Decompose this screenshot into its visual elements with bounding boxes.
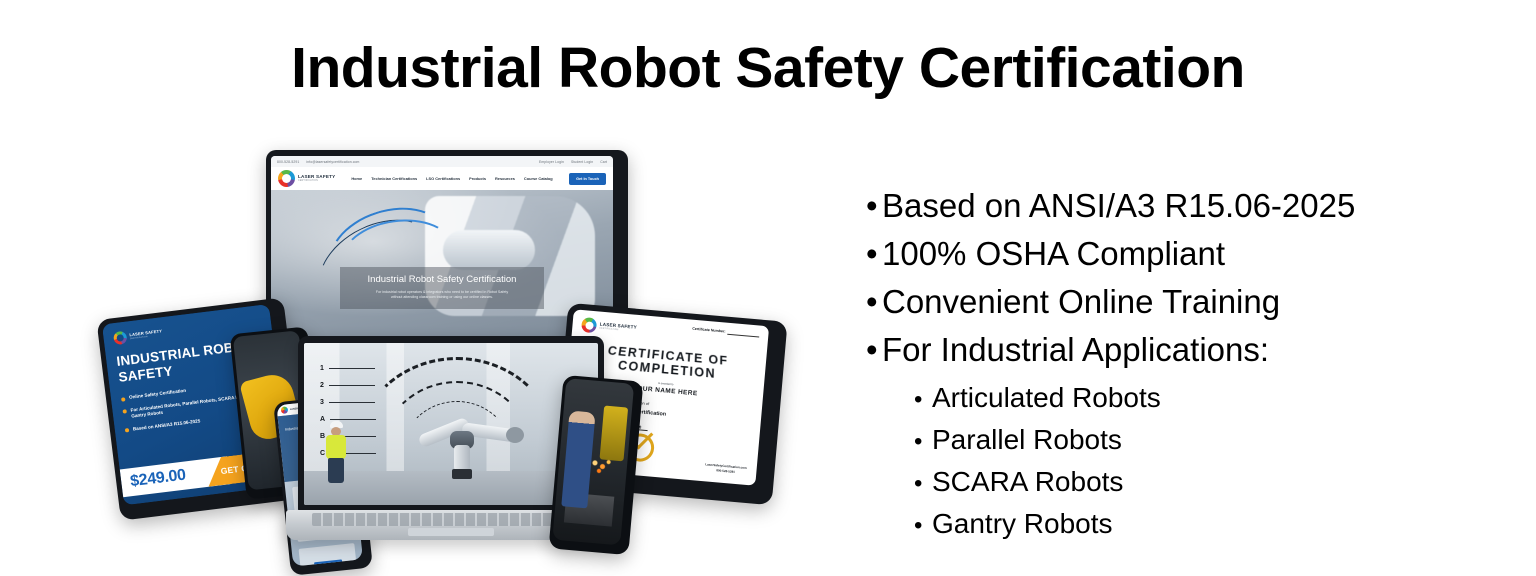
- bullet-marker: •: [866, 278, 882, 326]
- sub-bullet-marker: •: [914, 506, 932, 546]
- hero-title: Industrial Robot Safety Certification: [344, 273, 540, 286]
- robot-end-effector: [506, 427, 524, 443]
- nav-item-products[interactable]: Products: [469, 176, 486, 181]
- product-mockup-group: 800-528-5291 info@lasersafetycertificati…: [70, 140, 830, 560]
- certificate-logo: LASER SAFETY CERTIFICATION: [581, 317, 637, 337]
- nav-item-home[interactable]: Home: [351, 176, 362, 181]
- feature-bullet-list: • Based on ANSI/A3 R15.06-2025 • 100% OS…: [866, 182, 1506, 546]
- bullet-dot-icon: [121, 397, 125, 401]
- bullet-item: • For Industrial Applications:: [866, 326, 1506, 374]
- lsc-ring-icon: [113, 331, 127, 345]
- certificate-number-field: Certificate Number:: [692, 327, 759, 337]
- worker-legs: [328, 458, 344, 483]
- sparks-icon: [586, 454, 614, 476]
- certificate-footer: LaserSafetyCertification.com 800-528-529…: [705, 463, 747, 475]
- slide-canvas: Industrial Robot Safety Certification 80…: [0, 0, 1536, 576]
- brand-subtitle: CERTIFICATION: [298, 180, 335, 182]
- site-email: info@lasersafetycertification.com: [306, 160, 359, 164]
- leader-line: [330, 419, 376, 420]
- zone-label: 2: [320, 382, 376, 389]
- bullet-marker: •: [866, 182, 882, 230]
- phone-welder-screen: [552, 378, 634, 545]
- sub-bullet-label: SCARA Robots: [932, 462, 1123, 502]
- sub-bullet-item: • Parallel Robots: [914, 420, 1506, 462]
- site-hero-section: Industrial Robot Safety Certification Fo…: [271, 190, 613, 338]
- employer-login-link[interactable]: Employer Login: [539, 160, 564, 164]
- nav-item-technician-certifications[interactable]: Technician Certifications: [371, 176, 417, 181]
- site-navigation-bar: LASER SAFETY CERTIFICATION Home Technici…: [271, 167, 613, 190]
- sub-bullet-label: Gantry Robots: [932, 504, 1113, 544]
- lsc-ring-icon: [278, 170, 295, 187]
- sub-bullet-marker: •: [914, 380, 932, 420]
- sub-bullet-item: • Gantry Robots: [914, 504, 1506, 546]
- zone-label: 1: [320, 365, 376, 372]
- monitor-screen: 800-528-5291 info@lasersafetycertificati…: [271, 156, 613, 338]
- get-in-touch-button[interactable]: Get In Touch: [569, 173, 606, 185]
- bullet-marker: •: [866, 230, 882, 278]
- robot-column: [454, 445, 470, 471]
- safety-vest: [326, 435, 346, 459]
- hero-caption: Industrial Robot Safety Certification Fo…: [340, 267, 544, 309]
- cart-link[interactable]: Cart: [600, 160, 607, 164]
- certificate-number-label: Certificate Number:: [692, 327, 726, 334]
- lsc-ring-icon: [581, 317, 597, 333]
- sub-bullet-item: • SCARA Robots: [914, 462, 1506, 504]
- leader-line: [329, 368, 375, 369]
- bullet-label: Based on ANSI/A3 R15.06-2025: [882, 182, 1355, 230]
- machine-photo: [600, 405, 629, 461]
- robot-arm-figure: [422, 405, 518, 479]
- nav-item-lso-certifications[interactable]: LSO Certifications: [426, 176, 460, 181]
- bullet-dot-icon: [123, 409, 127, 413]
- trackpad[interactable]: [408, 528, 494, 536]
- keyboard[interactable]: [312, 513, 590, 526]
- sub-bullet-marker: •: [914, 464, 932, 504]
- brand-name: LASER SAFETY: [298, 175, 335, 180]
- bullet-item: • Convenient Online Training: [866, 278, 1506, 326]
- zone-label: 3: [320, 399, 376, 406]
- hero-body: For industrial robot operators & integra…: [344, 290, 540, 301]
- bullet-marker: •: [866, 326, 882, 374]
- bullet-item: • Based on ANSI/A3 R15.06-2025: [866, 182, 1506, 230]
- bullet-dot-icon: [125, 428, 129, 432]
- mobile-learn-more-button[interactable]: [314, 559, 342, 566]
- page-title: Industrial Robot Safety Certification: [0, 34, 1536, 102]
- sub-bullet-label: Articulated Robots: [932, 378, 1161, 418]
- nav-items: Home Technician Certifications LSO Certi…: [351, 176, 552, 181]
- bullet-item: • 100% OSHA Compliant: [866, 230, 1506, 278]
- site-phone: 800-528-5291: [277, 160, 299, 164]
- bullet-label: 100% OSHA Compliant: [882, 230, 1225, 278]
- nav-item-resources[interactable]: Resources: [495, 176, 515, 181]
- promo-feature-label: Online Safety Certification: [129, 388, 187, 402]
- site-utility-bar: 800-528-5291 info@lasersafetycertificati…: [271, 156, 613, 167]
- bullet-label: Convenient Online Training: [882, 278, 1280, 326]
- sub-bullet-item: • Articulated Robots: [914, 378, 1506, 420]
- nav-item-course-catalog[interactable]: Course Catalog: [524, 176, 553, 181]
- robot-type-sublist: • Articulated Robots • Parallel Robots •…: [866, 378, 1506, 546]
- student-login-link[interactable]: Student Login: [571, 160, 593, 164]
- site-logo[interactable]: LASER SAFETY CERTIFICATION: [278, 170, 335, 187]
- sub-bullet-marker: •: [914, 422, 932, 462]
- robot-base: [452, 469, 472, 479]
- promo-feature-label: Based on ANSI/A3 R15.06-2025: [133, 418, 201, 433]
- phone-welder-mockup: [549, 375, 644, 555]
- sub-bullet-label: Parallel Robots: [932, 420, 1122, 460]
- leader-line: [329, 385, 375, 386]
- bullet-label: For Industrial Applications:: [882, 326, 1269, 374]
- leader-line: [329, 402, 375, 403]
- worker-figure: [324, 421, 350, 483]
